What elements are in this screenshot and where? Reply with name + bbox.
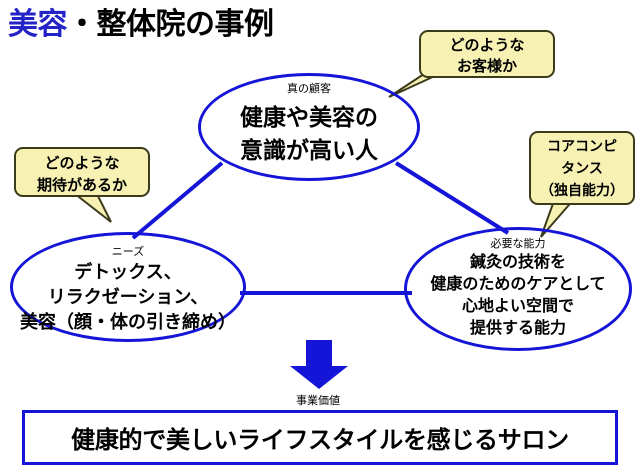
callout-customer-line-2: お客様か <box>421 56 553 77</box>
page-title: 美容・整体院の事例 <box>8 4 274 46</box>
business-value-label: 事業価値 <box>248 392 388 408</box>
node-true-customer-line-1: 健康や美容の <box>189 102 429 135</box>
node-required-capability-line-4: 提供する能力 <box>395 317 640 339</box>
callout-core-line-3: （独自能力） <box>531 180 633 202</box>
node-true-customer-label: 真の顧客 <box>201 83 417 95</box>
node-needs-line-3: 美容（顔・体の引き締め） <box>1 310 255 335</box>
callout-core-line-1: コアコンピ <box>531 136 633 158</box>
callout-needs-line-1: どのような <box>16 152 148 174</box>
node-required-capability-line-3: 心地よい空間で <box>395 295 640 317</box>
node-true-customer-text: 健康や美容の 意識が高い人 <box>189 102 429 168</box>
callout-needs-line-2: 期待があるか <box>16 174 148 196</box>
node-true-customer-line-2: 意識が高い人 <box>189 135 429 168</box>
down-arrow-icon <box>288 340 350 390</box>
callout-core-line-2: タンス <box>531 158 633 180</box>
node-required-capability-label: 必要な能力 <box>407 238 629 250</box>
node-needs-text: デトックス、 リラクゼーション、 美容（顔・体の引き締め） <box>1 260 255 335</box>
callout-core-competence[interactable]: コアコンピ タンス （独自能力） <box>529 131 635 205</box>
callout-customer-question[interactable]: どのような お客様か <box>419 30 555 78</box>
callout-customer-line-1: どのような <box>421 35 553 56</box>
page-title-rest: ・整体院の事例 <box>67 7 274 42</box>
node-required-capability-line-2: 健康のためのケアとして <box>395 273 640 295</box>
node-needs-line-1: デトックス、 <box>1 260 255 285</box>
node-required-capability-line-1: 鍼灸の技術を <box>395 251 640 273</box>
node-needs-label: ニーズ <box>13 246 243 258</box>
result-box: 健康的で美しいライフスタイルを感じるサロン <box>22 410 618 465</box>
edge-customer-capability <box>396 163 508 233</box>
callout-needs-question[interactable]: どのような 期待があるか <box>14 147 150 197</box>
node-true-customer[interactable]: 真の顧客 健康や美容の 意識が高い人 <box>198 73 420 181</box>
diagram-canvas: 美容・整体院の事例 真の顧客 健康や美容の 意識が高い人 ニーズ デトックス、 … <box>0 0 640 476</box>
node-required-capability[interactable]: 必要な能力 鍼灸の技術を 健康のためのケアとして 心地よい空間で 提供する能力 <box>404 227 632 351</box>
node-needs[interactable]: ニーズ デトックス、 リラクゼーション、 美容（顔・体の引き締め） <box>10 232 246 342</box>
result-text: 健康的で美しいライフスタイルを感じるサロン <box>71 420 569 455</box>
node-needs-line-2: リラクゼーション、 <box>1 285 255 310</box>
page-title-highlight: 美容 <box>8 7 67 42</box>
node-required-capability-text: 鍼灸の技術を 健康のためのケアとして 心地よい空間で 提供する能力 <box>395 251 640 339</box>
